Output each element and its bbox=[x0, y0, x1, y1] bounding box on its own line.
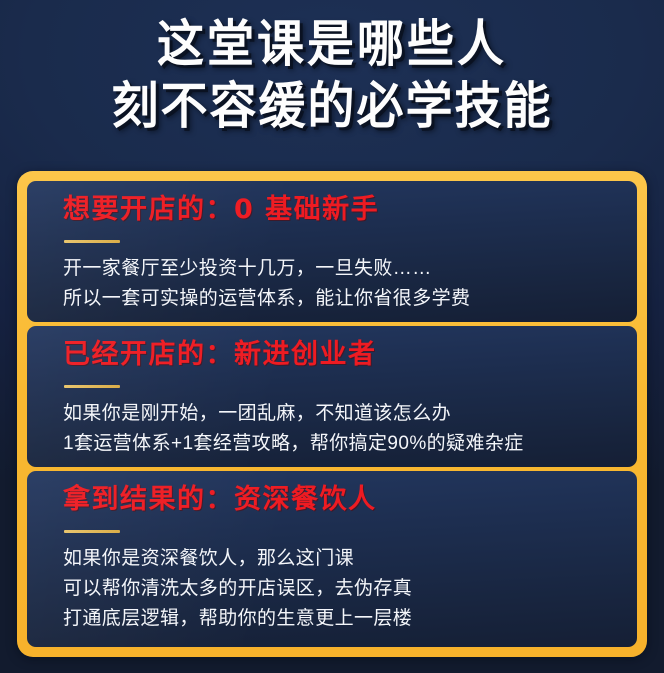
card-body-line: 所以一套可实操的运营体系，能让你省很多学费 bbox=[63, 284, 637, 314]
audience-card-heading: 拿到结果的：资深餐饮人 bbox=[63, 483, 637, 517]
card-divider bbox=[64, 385, 120, 388]
card-body-line: 开一家餐厅至少投资十几万，一旦失败…… bbox=[63, 254, 637, 284]
audience-card-heading: 已经开店的：新进创业者 bbox=[63, 338, 637, 372]
card-body-line: 打通底层逻辑，帮助你的生意更上一层楼 bbox=[63, 604, 637, 634]
page-title: 这堂课是哪些人 刻不容缓的必学技能 bbox=[0, 14, 664, 138]
poster-root: 这堂课是哪些人 刻不容缓的必学技能 想要开店的：0 基础新手 开一家餐厅至少投资… bbox=[0, 0, 664, 673]
card-divider bbox=[64, 240, 120, 243]
audience-card-heading: 想要开店的：0 基础新手 bbox=[63, 193, 637, 227]
card-body-line: 如果你是资深餐饮人，那么这门课 bbox=[63, 544, 637, 574]
audience-card-beginner: 想要开店的：0 基础新手 开一家餐厅至少投资十几万，一旦失败…… 所以一套可实操… bbox=[27, 181, 637, 322]
card-body-line: 1套运营体系+1套经营攻略，帮你搞定90%的疑难杂症 bbox=[63, 429, 637, 459]
page-title-line-2: 刻不容缓的必学技能 bbox=[0, 74, 664, 140]
audience-card-veteran: 拿到结果的：资深餐饮人 如果你是资深餐饮人，那么这门课 可以帮你清洗太多的开店误… bbox=[27, 471, 637, 647]
page-title-line-1: 这堂课是哪些人 bbox=[0, 12, 664, 78]
audience-card-body: 如果你是刚开始，一团乱麻，不知道该怎么办 1套运营体系+1套经营攻略，帮你搞定9… bbox=[63, 399, 637, 459]
audience-cards-frame: 想要开店的：0 基础新手 开一家餐厅至少投资十几万，一旦失败…… 所以一套可实操… bbox=[17, 171, 647, 657]
card-divider bbox=[64, 530, 120, 533]
audience-card-body: 开一家餐厅至少投资十几万，一旦失败…… 所以一套可实操的运营体系，能让你省很多学… bbox=[63, 254, 637, 314]
card-body-line: 如果你是刚开始，一团乱麻，不知道该怎么办 bbox=[63, 399, 637, 429]
audience-card-new-entrepreneur: 已经开店的：新进创业者 如果你是刚开始，一团乱麻，不知道该怎么办 1套运营体系+… bbox=[27, 326, 637, 467]
card-body-line: 可以帮你清洗太多的开店误区，去伪存真 bbox=[63, 574, 637, 604]
audience-card-body: 如果你是资深餐饮人，那么这门课 可以帮你清洗太多的开店误区，去伪存真 打通底层逻… bbox=[63, 544, 637, 634]
